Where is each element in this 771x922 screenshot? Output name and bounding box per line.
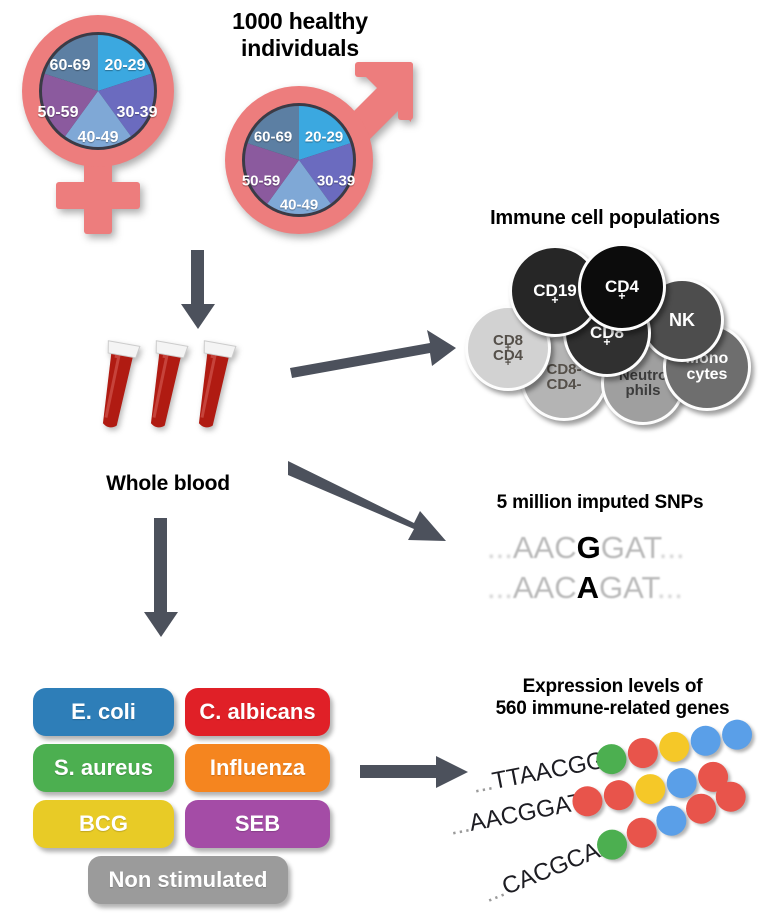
snp-row1-prefix: AAC: [513, 530, 577, 565]
figure-canvas: 1000 healthy individuals: [0, 0, 771, 922]
stimulus-bcg[interactable]: BCG: [33, 800, 174, 848]
female-gender-symbol: 20-29 30-39 40-49 50-59 60-69: [6, 10, 191, 242]
expression-strand-1-bead-2: [625, 735, 660, 770]
stimulus-e-coli[interactable]: E. coli: [33, 688, 174, 736]
stimulus-s-aureus[interactable]: S. aureus: [33, 744, 174, 792]
male-gender-symbol: 20-29 30-39 40-49 50-59 60-69: [205, 52, 427, 244]
expression-strand-3-bead-5: [711, 777, 750, 816]
expression-strand-group: ...TTAACGG ...AACGGAT ...CACGCAA: [455, 728, 771, 908]
immune-title: Immune cell populations: [445, 207, 765, 231]
arrow-stimuli-to-expression: [360, 752, 470, 792]
cell-cd8-cd4-positive-line1: CD8+: [493, 333, 523, 348]
snp-row2-dots-left: ...: [487, 570, 513, 605]
arrow-blood-to-immune: [288, 330, 458, 380]
snp-sequence-row-1: ...AACGGAT...: [487, 530, 685, 566]
snp-row2-suffix: GAT: [599, 570, 657, 605]
stimulus-seb[interactable]: SEB: [185, 800, 330, 848]
arrow-blood-to-snps: [286, 455, 451, 545]
arrow-blood-to-stimuli: [140, 518, 182, 638]
snp-row1-dots-right: ...: [659, 530, 685, 565]
cell-neutrophils-line2: phils: [619, 383, 667, 398]
snp-row1-dots-left: ...: [487, 530, 513, 565]
cohort-title-line1: 1000 healthy: [180, 8, 420, 35]
cell-nk-label: NK: [669, 311, 695, 329]
whole-blood-label: Whole blood: [78, 472, 258, 497]
expression-strand-1-bead-3: [657, 729, 692, 764]
snps-title: 5 million imputed SNPs: [450, 492, 750, 514]
cell-cd19-positive-label: CD19+: [533, 282, 576, 299]
expression-strand-2-bead-2: [601, 778, 636, 813]
stimulus-influenza[interactable]: Influenza: [185, 744, 330, 792]
stimulus-c-albicans[interactable]: C. albicans: [185, 688, 330, 736]
cell-cd4-positive-label: CD4+: [605, 278, 639, 295]
snp-row2-variant: A: [577, 570, 599, 605]
snp-row1-variant: G: [577, 530, 601, 565]
cell-cd8-cd4-positive-line2: CD4+: [493, 348, 523, 363]
immune-cell-cluster: CD8- CD4- CD8+ CD4+ Neutro phils Mono cy…: [465, 243, 765, 428]
stimulus-non-stimulated[interactable]: Non stimulated: [88, 856, 288, 904]
snp-row1-suffix: GAT: [601, 530, 659, 565]
expression-title: Expression levels of 560 immune-related …: [455, 676, 770, 721]
expression-strand-2-text: ...AACGGAT: [447, 788, 585, 841]
blood-tubes: [96, 340, 246, 460]
expression-strand-1-bead-4: [688, 723, 723, 758]
expression-strand-1-bead-5: [719, 717, 754, 752]
cell-monocytes-line2: cytes: [686, 367, 729, 383]
expression-title-line1: Expression levels of: [455, 676, 770, 698]
cell-cd4-positive: CD4+: [578, 243, 666, 331]
snp-sequence-row-2: ...AACAGAT...: [487, 570, 683, 606]
snp-row2-prefix: AAC: [513, 570, 577, 605]
arrow-cohort-to-blood: [178, 250, 218, 330]
cell-cd8-cd4-negative-line2: CD4-: [546, 377, 581, 392]
snp-row2-dots-right: ...: [657, 570, 683, 605]
